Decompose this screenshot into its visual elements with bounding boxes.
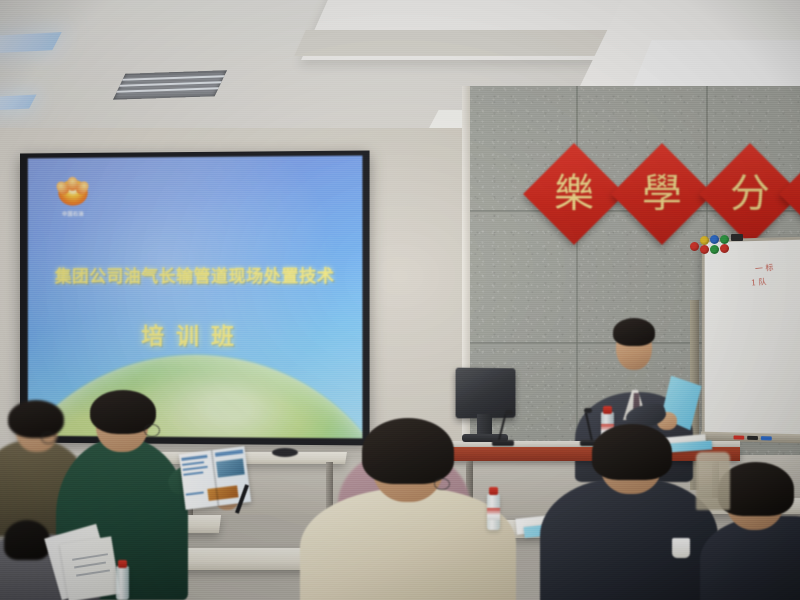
water-bottle — [487, 494, 500, 530]
cnpc-sun-mark — [56, 180, 89, 208]
magnet-green[interactable] — [710, 245, 719, 254]
water-bottle — [116, 566, 129, 600]
desk-object — [272, 448, 298, 457]
banner-diamond-2: 學 — [611, 143, 713, 245]
cnpc-logo-caption: 中国石油 — [55, 211, 90, 218]
eyeglasses — [434, 478, 450, 490]
whiteboard-surface[interactable] — [705, 240, 800, 435]
microphone-head — [584, 408, 592, 413]
olive-jacket-hair — [8, 400, 64, 438]
slide-title: 集团公司油气长输管道现场处置技术 — [28, 262, 363, 287]
magnet-red[interactable] — [700, 245, 709, 254]
paper-cup — [672, 538, 690, 558]
dark-suit-hair — [592, 424, 672, 480]
ceiling-light-panel — [0, 32, 62, 54]
marker-red[interactable] — [734, 435, 745, 439]
whiteboard[interactable]: 一 标 1 队 — [702, 236, 800, 437]
magnet-red[interactable] — [720, 244, 729, 253]
bottle-cap — [118, 560, 127, 568]
whiteboard-note-1: 一 标 — [755, 262, 774, 275]
bottle-label — [487, 508, 500, 520]
magnet-blue[interactable] — [710, 235, 719, 244]
marker-black[interactable] — [747, 436, 758, 440]
training-room-photo: 樂 學 分 享 中国石油 集团公司油气长输管道现场处置技术 培训班 — [0, 0, 800, 600]
microphone-base — [492, 440, 514, 446]
whiteboard-clip[interactable] — [731, 234, 743, 241]
bottle-cap — [489, 487, 498, 495]
cream-jacket-body — [300, 488, 516, 600]
chair-back — [696, 452, 730, 510]
dark-suit-body — [540, 478, 718, 600]
banner-char-1: 樂 — [538, 158, 610, 230]
ceiling-light-panel — [0, 94, 37, 111]
ceiling-air-vent — [113, 70, 227, 99]
magnet-red[interactable] — [690, 242, 699, 251]
handheld-papers — [60, 536, 120, 600]
grey-jacket-head — [4, 520, 50, 560]
microphone-head — [505, 410, 513, 415]
slide-subtitle: 培训班 — [28, 317, 363, 352]
cream-jacket-hair — [362, 418, 454, 484]
marker-blue[interactable] — [761, 436, 772, 440]
bottle-cap — [603, 406, 612, 414]
banner-char-4: 享 — [794, 158, 800, 230]
eyeglasses — [41, 432, 56, 444]
banner-diamond-1: 樂 — [523, 143, 625, 245]
banner-char-3: 分 — [714, 158, 786, 230]
whiteboard-note-2: 1 队 — [751, 276, 767, 288]
presenter-hair — [613, 318, 655, 346]
magnet-yellow[interactable] — [700, 236, 709, 245]
eyeglasses — [144, 424, 160, 437]
projection-screen-surface: 中国石油 集团公司油气长输管道现场处置技术 培训班 — [28, 156, 363, 439]
magnet-green[interactable] — [720, 235, 729, 244]
monitor-neck — [477, 414, 492, 436]
banner-char-2: 學 — [626, 158, 698, 230]
cnpc-logo: 中国石油 — [55, 180, 90, 224]
projection-screen-frame: 中国石油 集团公司油气长输管道现场处置技术 培训班 — [20, 150, 370, 445]
